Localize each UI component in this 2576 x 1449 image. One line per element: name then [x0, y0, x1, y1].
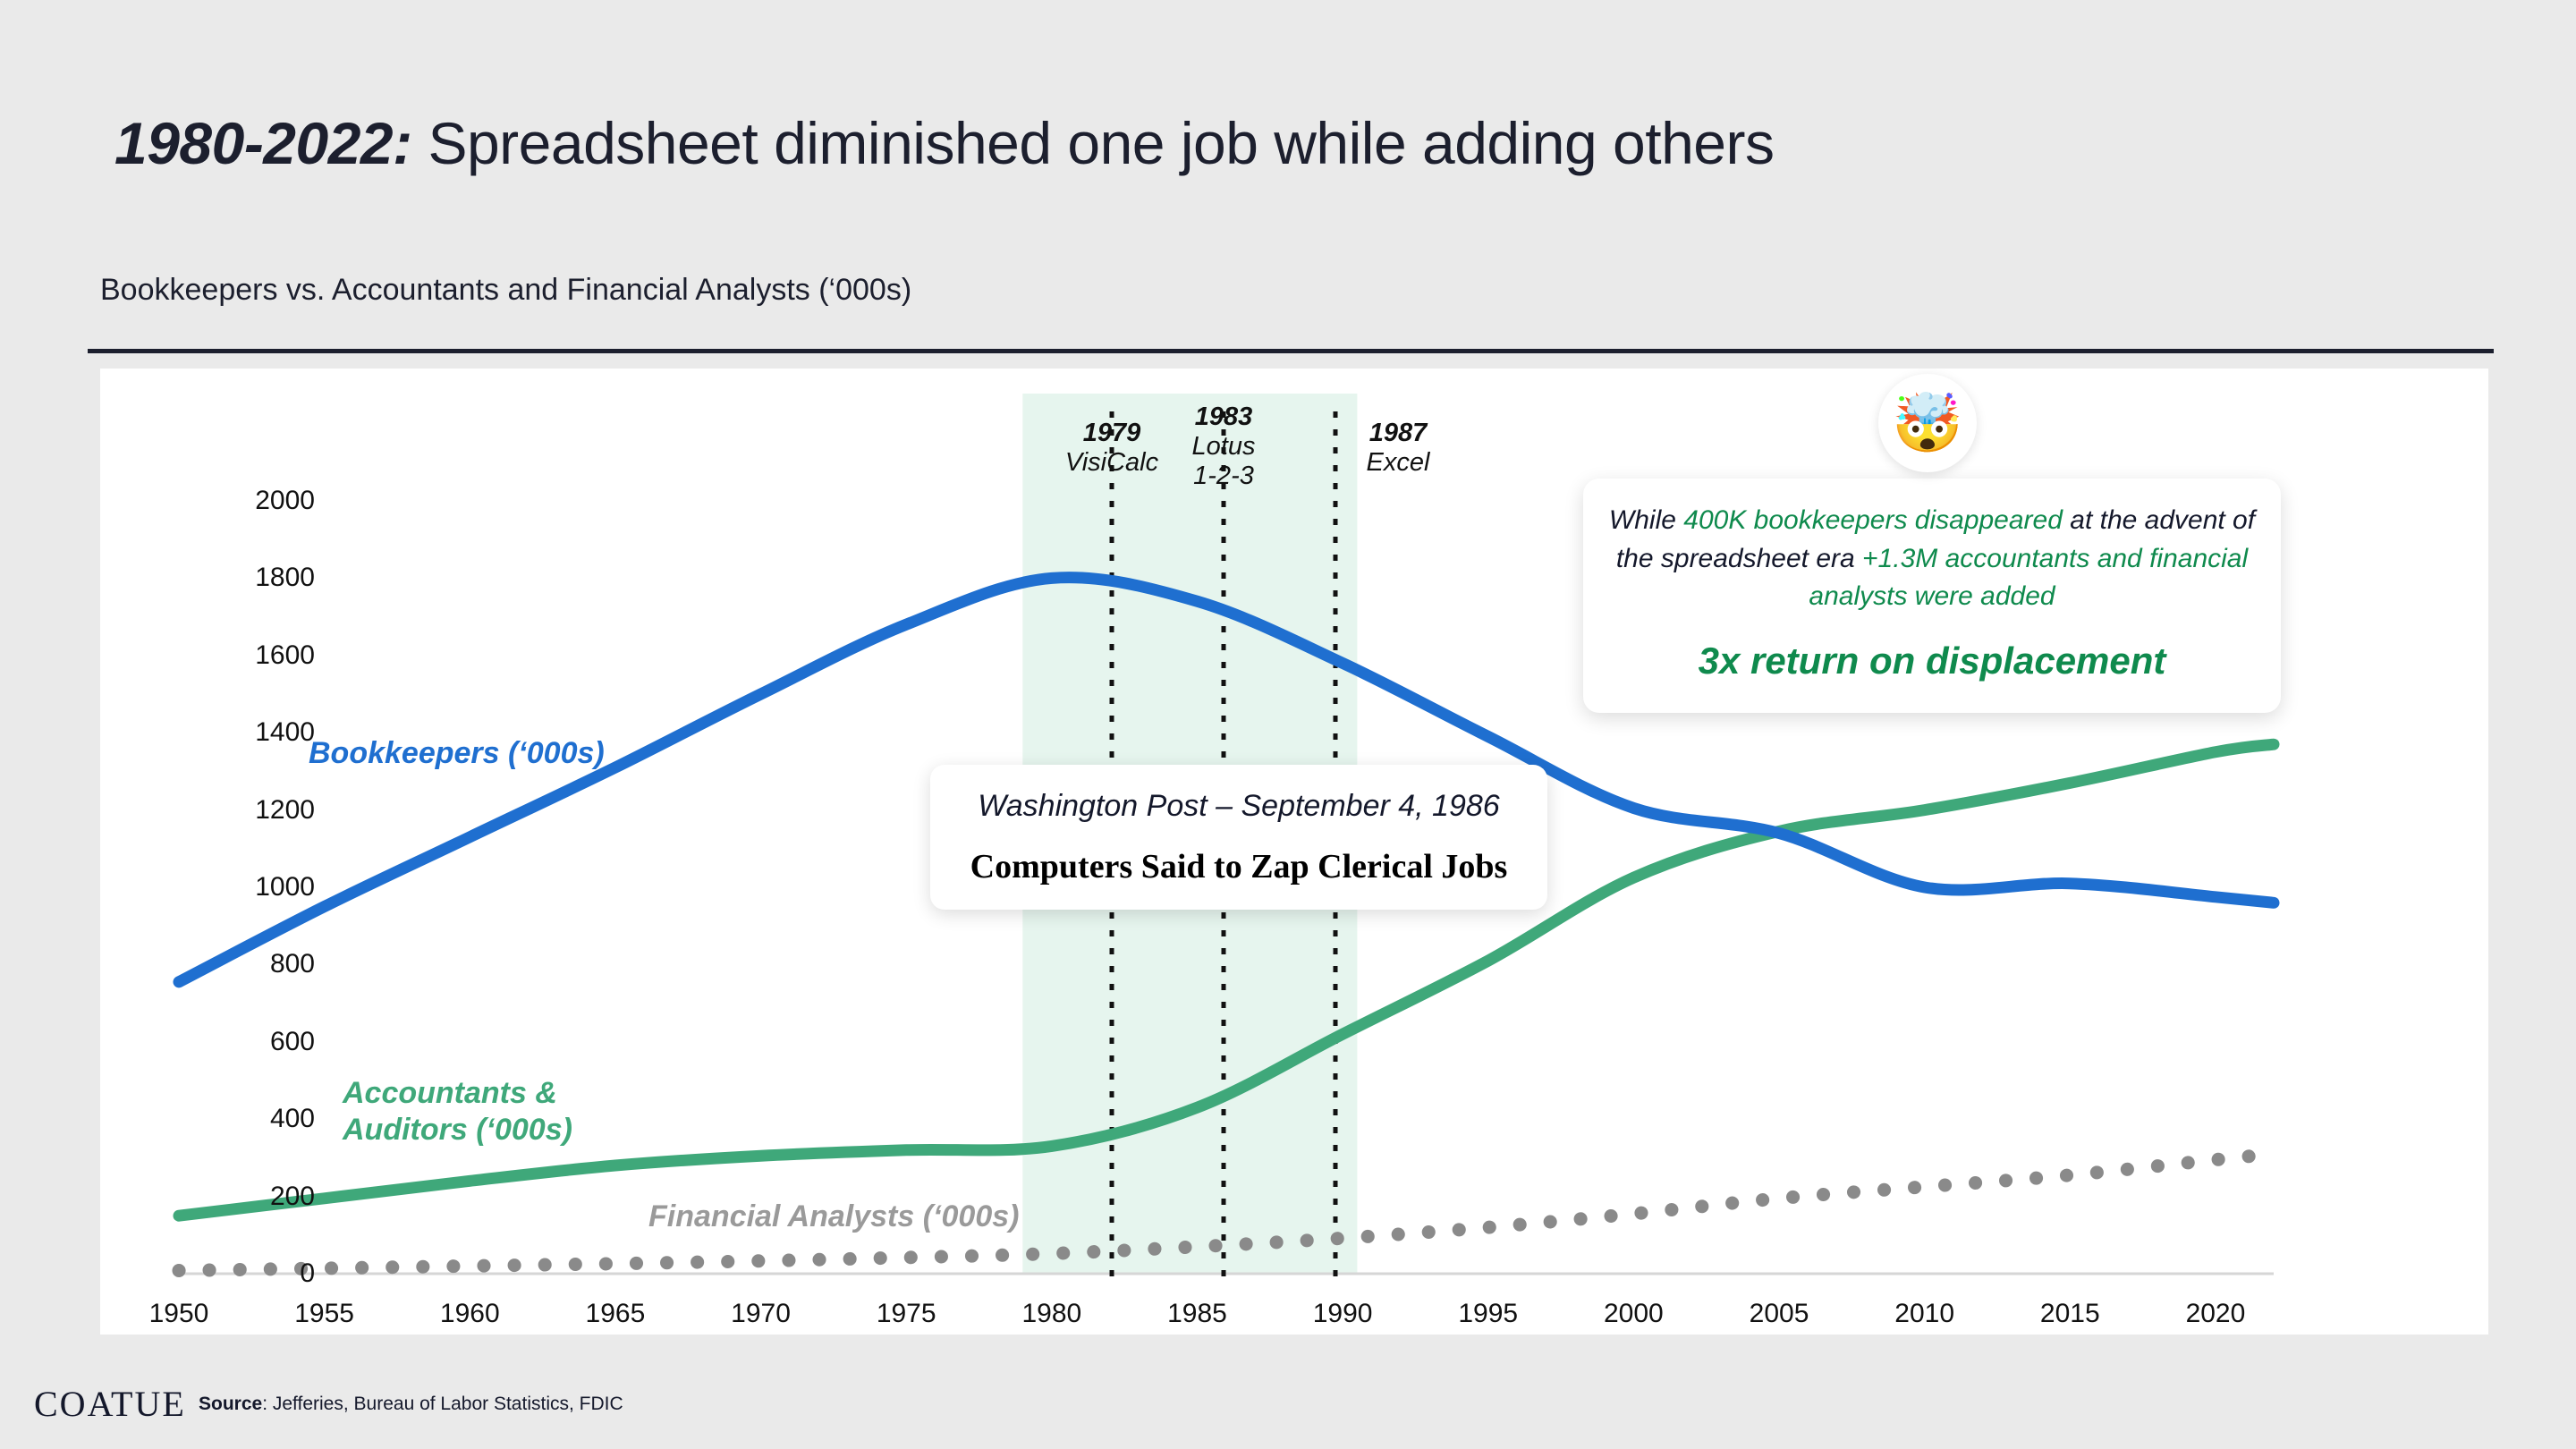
x-axis-tick-label: 1965: [586, 1299, 646, 1329]
exploding-head-glyph: 🤯: [1892, 394, 1963, 452]
milestone-label-1987: 1987 Excel: [1367, 419, 1430, 478]
y-axis-tick-label: 2000: [208, 486, 315, 516]
y-axis-tick-label: 1000: [208, 872, 315, 902]
insight-highlight-1: 400K bookkeepers disappeared: [1683, 505, 2063, 535]
y-axis-tick-label: 1600: [208, 640, 315, 671]
milestone-name: VisiCalc: [1065, 448, 1158, 478]
exploding-head-emoji: 🤯: [1878, 374, 1977, 472]
insight-callout-body: While 400K bookkeepers disappeared at th…: [1606, 502, 2258, 616]
milestone-name: Lotus: [1192, 432, 1256, 462]
series-label-accountants-line2: Auditors (‘000s): [343, 1113, 572, 1147]
insight-text-1: While: [1609, 505, 1683, 535]
series-label-bookkeepers: Bookkeepers (‘000s): [309, 735, 605, 772]
page-title: 1980-2022: Spreadsheet diminished one jo…: [114, 109, 1774, 177]
insight-highlight-2: +1.3M accountants and financial analysts…: [1809, 544, 2248, 612]
source-note: Source: Jefferies, Bureau of Labor Stati…: [199, 1394, 623, 1415]
y-axis-ticks: 2000180016001400120010008006004002000: [127, 369, 315, 1335]
title-emphasis: 1980-2022:: [114, 110, 412, 176]
chart-subtitle: Bookkeepers vs. Accountants and Financia…: [100, 273, 911, 308]
y-axis-tick-label: 800: [208, 949, 315, 979]
title-rest: Spreadsheet diminished one job while add…: [412, 110, 1775, 176]
newspaper-callout: Washington Post – September 4, 1986 Comp…: [930, 765, 1547, 910]
x-axis-tick-label: 1950: [149, 1299, 209, 1329]
series-label-accountants: Accountants & Auditors (‘000s): [343, 1075, 572, 1149]
x-axis-tick-label: 1960: [440, 1299, 500, 1329]
x-axis-tick-label: 1990: [1313, 1299, 1373, 1329]
source-label: Source: [199, 1394, 262, 1414]
y-axis-tick-label: 200: [208, 1182, 315, 1212]
series-label-financial-analysts: Financial Analysts (‘000s): [648, 1199, 1019, 1235]
newspaper-headline: Computers Said to Zap Clerical Jobs: [970, 847, 1508, 886]
x-axis-tick-label: 2015: [2040, 1299, 2100, 1329]
header-divider: [88, 349, 2494, 353]
coatue-logo: COATUE: [34, 1383, 186, 1425]
x-axis-tick-label: 2020: [2186, 1299, 2246, 1329]
milestone-label-1983: 1983 Lotus 1-2-3: [1192, 402, 1256, 491]
x-axis-tick-label: 2010: [1894, 1299, 1954, 1329]
x-axis-tick-label: 2005: [1750, 1299, 1809, 1329]
x-axis-tick-label: 1970: [731, 1299, 791, 1329]
y-axis-tick-label: 1200: [208, 795, 315, 826]
y-axis-tick-label: 1400: [208, 717, 315, 748]
milestone-name: Excel: [1367, 448, 1430, 478]
y-axis-tick-label: 400: [208, 1104, 315, 1134]
milestone-year: 1987: [1367, 419, 1430, 448]
x-axis-tick-label: 1985: [1167, 1299, 1227, 1329]
x-axis-tick-label: 1995: [1458, 1299, 1518, 1329]
x-axis-tick-label: 2000: [1604, 1299, 1664, 1329]
x-axis-tick-label: 1975: [877, 1299, 936, 1329]
newspaper-source: Washington Post – September 4, 1986: [978, 789, 1499, 824]
milestone-year: 1983: [1192, 402, 1256, 432]
series-label-accountants-line1: Accountants &: [343, 1076, 557, 1110]
x-axis-tick-label: 1980: [1021, 1299, 1081, 1329]
slide-root: 1980-2022: Spreadsheet diminished one jo…: [0, 0, 2576, 1449]
x-axis-tick-label: 1955: [294, 1299, 354, 1329]
y-axis-tick-label: 0: [208, 1258, 315, 1289]
milestone-name-2: 1-2-3: [1192, 462, 1256, 491]
insight-kicker: 3x return on displacement: [1606, 640, 2258, 682]
y-axis-tick-label: 1800: [208, 563, 315, 593]
insight-callout: While 400K bookkeepers disappeared at th…: [1583, 479, 2281, 713]
milestone-label-1979: 1979 VisiCalc: [1065, 419, 1158, 478]
source-text: : Jefferies, Bureau of Labor Statistics,…: [262, 1394, 623, 1414]
y-axis-tick-label: 600: [208, 1027, 315, 1057]
milestone-year: 1979: [1065, 419, 1158, 448]
